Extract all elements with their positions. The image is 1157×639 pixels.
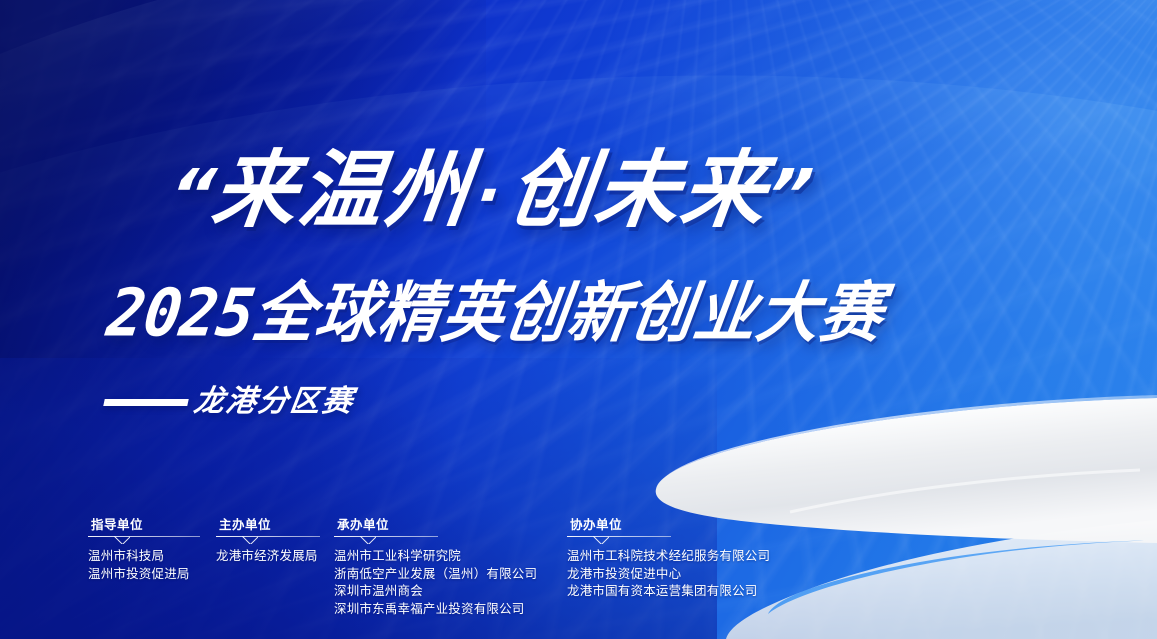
credits-item: 深圳市东禹幸福产业投资有限公司 xyxy=(334,601,537,619)
chevron-down-icon xyxy=(360,536,376,544)
division-row: 龙港分区赛 xyxy=(104,387,354,417)
credits-item: 温州市工科院技术经纪服务有限公司 xyxy=(567,548,770,566)
headline-part-2: 创未来 xyxy=(503,141,773,239)
division-name: 龙港分区赛 xyxy=(192,387,356,417)
chevron-down-icon xyxy=(593,536,609,544)
credits-column-guidance: 指导单位 温州市科技局 温州市投资促进局 xyxy=(88,518,190,583)
credits-column-coorganizer: 协办单位 温州市工科院技术经纪服务有限公司 龙港市投资促进中心 龙港市国有资本运… xyxy=(567,518,770,601)
subtitle-text: 全球精英创新创业大赛 xyxy=(248,274,889,351)
credits-divider xyxy=(567,536,770,545)
quote-close: ” xyxy=(762,154,815,236)
subtitle: 2025全球精英创新创业大赛 xyxy=(103,280,888,346)
credits-divider xyxy=(334,536,537,545)
credits-item: 温州市投资促进局 xyxy=(88,566,190,584)
credits-item: 深圳市温州商会 xyxy=(334,583,537,601)
credits-item: 浙南低空产业发展（温州）有限公司 xyxy=(334,566,537,584)
credits-heading: 指导单位 xyxy=(88,518,190,533)
credits-heading: 承办单位 xyxy=(334,518,537,533)
divider-bar xyxy=(334,536,438,537)
chevron-down-icon xyxy=(242,536,258,544)
credits-heading: 协办单位 xyxy=(567,518,770,533)
poster-canvas: “来温州·创未来” 2025全球精英创新创业大赛 龙港分区赛 指导单位 温州市科… xyxy=(0,0,1157,639)
credits-item: 温州市工业科学研究院 xyxy=(334,548,537,566)
credits-divider xyxy=(216,536,318,545)
credits-section: 指导单位 温州市科技局 温州市投资促进局 主办单位 龙港市经济发展局 承办单位 xyxy=(0,518,1157,639)
divider-bar xyxy=(88,536,200,537)
credits-list: 温州市工科院技术经纪服务有限公司 龙港市投资促进中心 龙港市国有资本运营集团有限… xyxy=(567,548,770,601)
credits-item: 龙港市投资促进中心 xyxy=(567,566,770,584)
headline-row: “来温州·创未来” xyxy=(170,148,1030,232)
divider-bar xyxy=(216,536,320,537)
credits-item: 温州市科技局 xyxy=(88,548,190,566)
credits-column-organizer: 承办单位 温州市工业科学研究院 浙南低空产业发展（温州）有限公司 深圳市温州商会… xyxy=(334,518,537,618)
subtitle-row: 2025全球精英创新创业大赛 xyxy=(108,282,883,344)
headline: “来温州·创未来” xyxy=(165,148,816,232)
credits-list: 温州市工业科学研究院 浙南低空产业发展（温州）有限公司 深圳市温州商会 深圳市东… xyxy=(334,548,537,618)
em-dash-rule xyxy=(103,399,188,406)
credits-list: 龙港市经济发展局 xyxy=(216,548,318,566)
credits-heading: 主办单位 xyxy=(216,518,318,533)
chevron-down-icon xyxy=(114,536,130,544)
credits-divider xyxy=(88,536,190,545)
subtitle-year: 2025 xyxy=(103,274,259,351)
credits-item: 龙港市经济发展局 xyxy=(216,548,318,566)
divider-bar xyxy=(567,536,671,537)
credits-column-host: 主办单位 龙港市经济发展局 xyxy=(216,518,318,566)
headline-part-1: 来温州 xyxy=(207,141,477,239)
credits-list: 温州市科技局 温州市投资促进局 xyxy=(88,548,190,583)
credits-item: 龙港市国有资本运营集团有限公司 xyxy=(567,583,770,601)
